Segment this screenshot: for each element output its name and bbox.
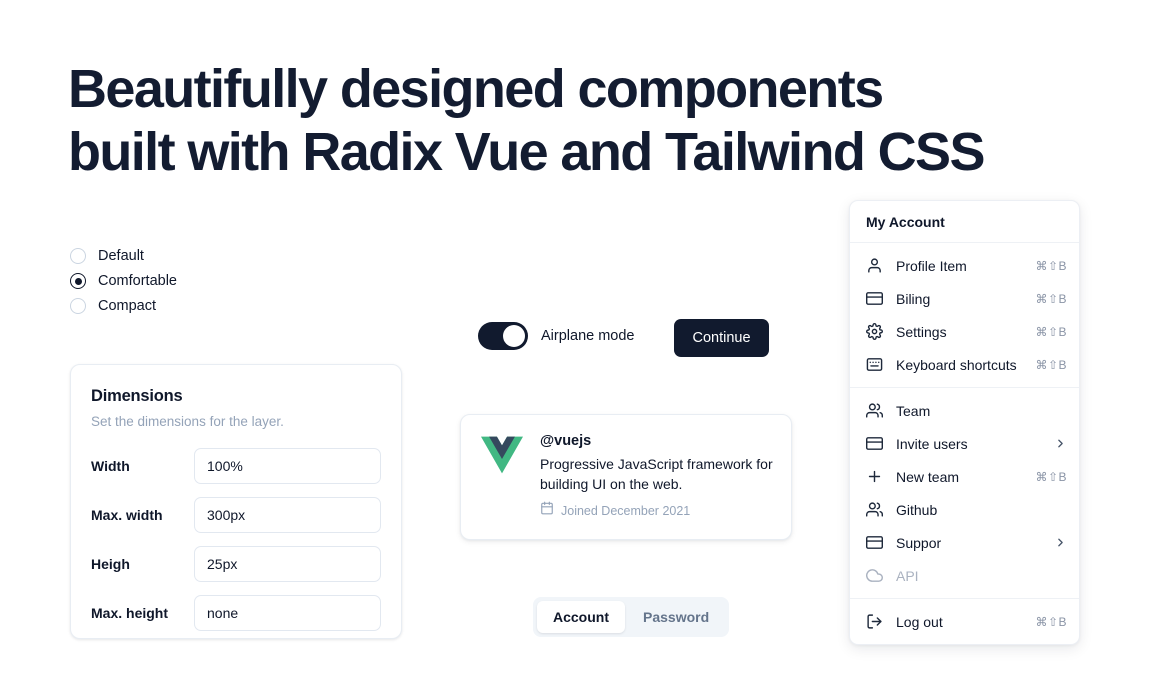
menu-group: Profile Item⌘⇧BBiling⌘⇧BSettings⌘⇧BKeybo… [850,243,1079,387]
dimension-label-max-height: Max. height [91,605,194,621]
menu-item-label: Keyboard shortcuts [896,357,1022,373]
dimension-label-width: Width [91,458,194,474]
menu-item-profile-item[interactable]: Profile Item⌘⇧B [850,249,1079,282]
radio-dot [75,278,82,285]
menu-item-label: Biling [896,291,1022,307]
calendar-icon [540,501,554,520]
page-root: Beautifully designed components built wi… [0,0,1152,700]
menu-item-shortcut: ⌘⇧B [1035,358,1067,372]
dimension-row-max-height: Max. height [91,595,381,631]
dimensions-card: Dimensions Set the dimensions for the la… [70,364,402,639]
settings-tabs: AccountPassword [533,597,729,637]
menu-item-log-out[interactable]: Log out⌘⇧B [850,605,1079,638]
keyboard-icon [866,356,883,373]
dimension-input-max-height[interactable] [194,595,381,631]
vue-hover-card: @vuejs Progressive JavaScript framework … [460,414,792,540]
radio-mark-icon [70,273,86,289]
chevron-right-icon [1054,536,1067,549]
vue-joined-text: Joined December 2021 [561,504,690,518]
radio-option-default[interactable]: Default [70,248,177,264]
vue-handle: @vuejs [540,433,780,449]
chevron-right-icon [1054,437,1067,450]
density-radio-group: DefaultComfortableCompact [70,248,177,314]
dimensions-field-list: WidthMax. widthHeighMax. height [91,448,381,631]
cloud-icon [866,567,883,584]
menu-item-new-team[interactable]: New team⌘⇧B [850,460,1079,493]
menu-item-shortcut: ⌘⇧B [1035,615,1067,629]
continue-button[interactable]: Continue [674,319,769,357]
menu-item-shortcut: ⌘⇧B [1035,325,1067,339]
menu-item-label: Suppor [896,535,1041,551]
menu-group: TeamInvite usersNew team⌘⇧BGithubSupporA… [850,388,1079,598]
page-title-line-1: Beautifully designed components [68,58,1028,121]
dimension-row-max-width: Max. width [91,497,381,533]
vue-hover-card-body: @vuejs Progressive JavaScript framework … [540,433,780,539]
airplane-mode-label: Airplane mode [541,328,635,344]
credit-card-icon [866,534,883,551]
menu-item-suppor[interactable]: Suppor [850,526,1079,559]
users-icon [866,402,883,419]
airplane-mode-row: Airplane mode [478,322,635,350]
gear-icon [866,323,883,340]
users-icon [866,501,883,518]
menu-groups: Profile Item⌘⇧BBiling⌘⇧BSettings⌘⇧BKeybo… [850,243,1079,644]
menu-item-label: Settings [896,324,1022,340]
dimension-input-max-width[interactable] [194,497,381,533]
menu-group: Log out⌘⇧B [850,599,1079,644]
logout-icon [866,613,883,630]
plus-icon [866,468,883,485]
credit-card-icon [866,435,883,452]
dimension-row-width: Width [91,448,381,484]
radio-option-label: Compact [98,298,156,314]
menu-header: My Account [850,201,1079,242]
menu-item-label: Profile Item [896,258,1022,274]
menu-item-shortcut: ⌘⇧B [1035,259,1067,273]
tab-account[interactable]: Account [537,601,625,633]
dimension-label-heigh: Heigh [91,556,194,572]
menu-item-label: New team [896,469,1022,485]
dimensions-card-title: Dimensions [91,387,381,406]
menu-item-biling[interactable]: Biling⌘⇧B [850,282,1079,315]
menu-item-team[interactable]: Team [850,394,1079,427]
vue-description: Progressive JavaScript framework for bui… [540,454,780,494]
radio-mark-icon [70,248,86,264]
page-title-line-2: built with Radix Vue and Tailwind CSS [68,121,1028,184]
menu-item-label: Team [896,403,1067,419]
dimension-input-heigh[interactable] [194,546,381,582]
radio-option-label: Comfortable [98,273,177,289]
dimension-row-heigh: Heigh [91,546,381,582]
menu-item-label: API [896,568,1067,584]
credit-card-icon [866,290,883,307]
radio-mark-icon [70,298,86,314]
menu-item-shortcut: ⌘⇧B [1035,292,1067,306]
user-icon [866,257,883,274]
menu-item-label: Log out [896,614,1022,630]
menu-item-github[interactable]: Github [850,493,1079,526]
radio-option-compact[interactable]: Compact [70,298,177,314]
page-title: Beautifully designed components built wi… [68,58,1028,184]
airplane-mode-switch[interactable] [478,322,528,350]
radio-option-label: Default [98,248,144,264]
menu-item-label: Github [896,502,1067,518]
menu-item-api: API [850,559,1079,592]
dimension-input-width[interactable] [194,448,381,484]
vue-joined-row: Joined December 2021 [540,501,780,520]
menu-item-invite-users[interactable]: Invite users [850,427,1079,460]
dimension-label-max-width: Max. width [91,507,194,523]
menu-item-keyboard-shortcuts[interactable]: Keyboard shortcuts⌘⇧B [850,348,1079,381]
menu-item-label: Invite users [896,436,1041,452]
dimensions-card-subtitle: Set the dimensions for the layer. [91,414,381,429]
account-dropdown-menu: My Account Profile Item⌘⇧BBiling⌘⇧BSetti… [849,200,1080,645]
menu-item-settings[interactable]: Settings⌘⇧B [850,315,1079,348]
radio-option-comfortable[interactable]: Comfortable [70,273,177,289]
vue-logo-icon [481,436,523,474]
menu-item-shortcut: ⌘⇧B [1035,470,1067,484]
tab-password[interactable]: Password [627,601,725,633]
switch-knob [503,325,525,347]
